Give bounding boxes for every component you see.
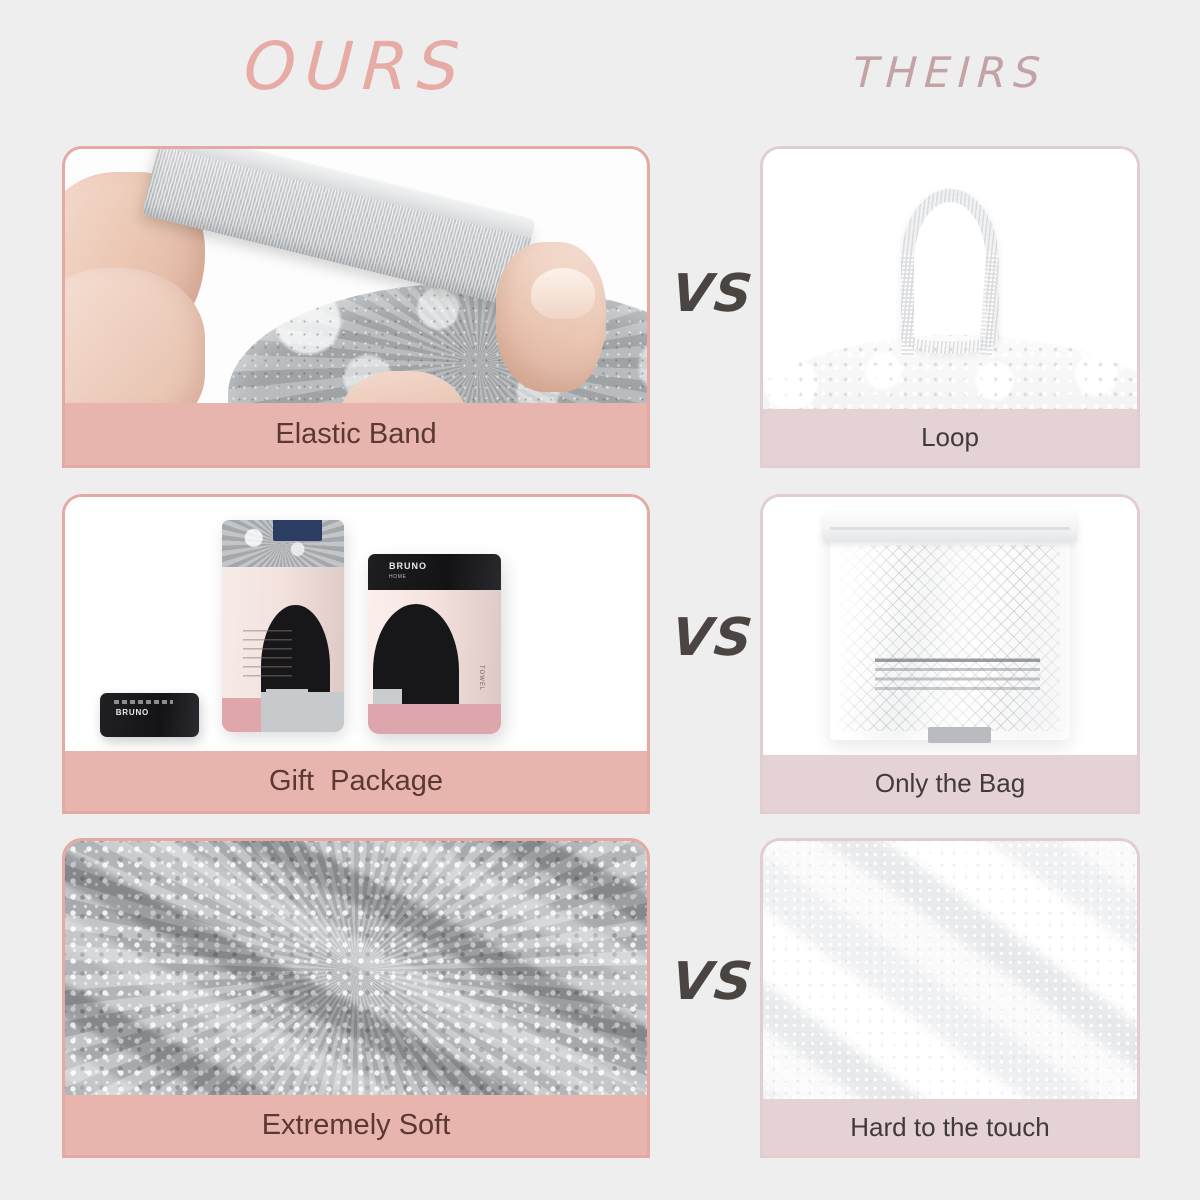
card-caption-ours-3: Extremely Soft xyxy=(65,1095,647,1155)
comparison-card-theirs-2: Only the Bag xyxy=(760,494,1140,814)
vs-marker-1: VS xyxy=(669,268,756,320)
caption-text: Loop xyxy=(921,422,979,453)
card-caption-theirs-1: Loop xyxy=(763,409,1137,465)
tube-front-pink-base xyxy=(368,704,502,735)
vs-text: VS xyxy=(669,264,757,324)
gift-tube-lid-shape: BRUNO xyxy=(100,693,199,737)
vs-text: VS xyxy=(669,952,757,1012)
tube-side-text: TOWEL xyxy=(478,665,484,691)
poly-bag-body-shape xyxy=(830,518,1069,740)
comparison-card-ours-1: Elastic Band xyxy=(62,146,650,468)
comparison-card-ours-2: BRUNO HOME TOWEL BRUNO Gift Package xyxy=(62,494,650,814)
vs-marker-2: VS xyxy=(669,612,756,664)
vs-text: VS xyxy=(669,608,757,668)
card-image-loop xyxy=(763,149,1137,415)
tube-black-cap xyxy=(368,554,502,590)
caption-text: Hard to the touch xyxy=(850,1112,1049,1143)
caption-text: Only the Bag xyxy=(875,768,1025,799)
column-heading-ours: OURS xyxy=(60,34,651,100)
card-image-elastic-band xyxy=(65,149,647,407)
tube-front-gray-block xyxy=(373,689,402,703)
plastic-poly-bag-photo xyxy=(763,497,1137,761)
white-flat-fabric-photo xyxy=(763,841,1137,1105)
card-image-gift-package: BRUNO HOME TOWEL BRUNO xyxy=(65,497,647,755)
tube-pink-base xyxy=(222,698,344,732)
comparison-card-theirs-3: Hard to the touch xyxy=(760,838,1140,1158)
vs-marker-3: VS xyxy=(669,956,756,1008)
white-hanging-loop-photo xyxy=(763,149,1137,415)
card-caption-theirs-2: Only the Bag xyxy=(763,755,1137,811)
column-heading-theirs: THEIRS xyxy=(759,52,1141,94)
poly-bag-seal-shape xyxy=(823,508,1077,542)
card-caption-theirs-3: Hard to the touch xyxy=(763,1099,1137,1155)
card-image-white-fabric xyxy=(763,841,1137,1105)
comparison-card-ours-3: Extremely Soft xyxy=(62,838,650,1158)
hand-holding-elastic-band-photo xyxy=(65,149,647,407)
poly-bag-printed-text xyxy=(875,655,1040,697)
gray-plush-texture-photo xyxy=(65,841,647,1099)
card-image-plush-texture xyxy=(65,841,647,1099)
lid-brand-mark: BRUNO xyxy=(116,708,149,717)
lid-print-bars xyxy=(114,700,173,704)
card-image-poly-bag xyxy=(763,497,1137,761)
navy-tag-shape xyxy=(273,520,322,541)
card-caption-ours-1: Elastic Band xyxy=(65,403,647,465)
closed-gift-tube-shape: BRUNO HOME TOWEL xyxy=(368,554,502,735)
tube-brand-mark: BRUNO xyxy=(389,561,427,571)
tube-printed-lines xyxy=(243,630,292,681)
thumbnail-shape xyxy=(531,268,595,320)
header-row: OURS THEIRS xyxy=(0,0,1200,140)
loop-strap-shape xyxy=(901,189,998,354)
caption-text: Gift Package xyxy=(269,765,443,798)
comparison-card-theirs-1: Loop xyxy=(760,146,1140,468)
gift-tube-packaging-photo: BRUNO HOME TOWEL BRUNO xyxy=(65,497,647,755)
tube-brand-subtext: HOME xyxy=(389,574,406,580)
open-gift-tube-shape xyxy=(222,520,344,732)
caption-text: Extremely Soft xyxy=(262,1109,451,1142)
caption-text: Elastic Band xyxy=(275,418,436,451)
card-caption-ours-2: Gift Package xyxy=(65,751,647,811)
poly-bag-logo-patch xyxy=(928,727,992,743)
